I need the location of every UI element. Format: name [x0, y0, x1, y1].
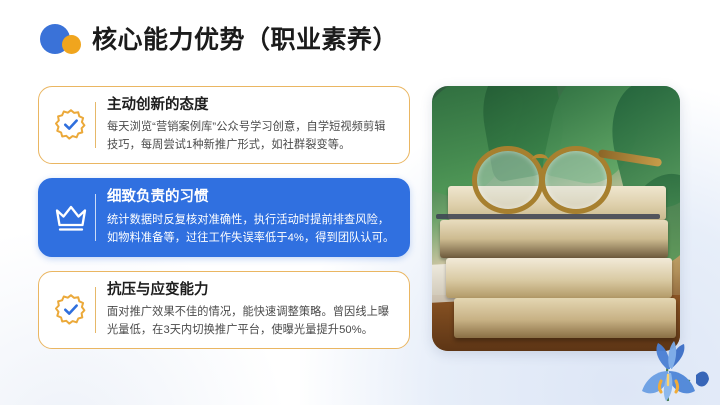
card-divider	[95, 194, 96, 240]
capability-card-1-title: 主动创新的态度	[107, 96, 395, 114]
capability-card-3-title: 抗压与应变能力	[107, 281, 395, 299]
page-title: 核心能力优势（职业素养）	[92, 28, 398, 53]
eyeglasses-bridge	[532, 154, 548, 165]
eyeglasses-icon	[468, 140, 646, 204]
capability-card-1[interactable]: 主动创新的态度 每天浏览“营销案例库”公众号学习创意，自学短视频剪辑技巧，每周尝…	[38, 86, 410, 164]
blue-iris-flower-icon	[628, 331, 714, 405]
capability-card-2-title: 细致负责的习惯	[107, 188, 395, 206]
card-divider	[95, 102, 96, 148]
logo-dots-icon	[40, 22, 86, 58]
slide-header: 核心能力优势（职业素养）	[40, 18, 398, 62]
card-divider	[95, 287, 96, 333]
capability-card-2[interactable]: 细致负责的习惯 统计数据时反复核对准确性，执行活动时提前排查风险，如物料准备等，…	[38, 178, 410, 256]
capability-card-2-body: 细致负责的习惯 统计数据时反复核对准确性，执行活动时提前排查风险，如物料准备等，…	[107, 188, 395, 246]
books-photo	[432, 86, 680, 351]
capability-card-3-body: 抗压与应变能力 面对推广效果不佳的情况，能快速调整策略。曾因线上曝光量低，在3天…	[107, 281, 395, 339]
books-photo-image	[432, 86, 680, 351]
capability-card-2-desc: 统计数据时反复核对准确性，执行活动时提前排查风险，如物料准备等，过往工作失误率低…	[107, 211, 395, 247]
capability-card-list: 主动创新的态度 每天浏览“营销案例库”公众号学习创意，自学短视频剪辑技巧，每周尝…	[38, 86, 410, 349]
capability-card-3[interactable]: 抗压与应变能力 面对推广效果不佳的情况，能快速调整策略。曾因线上曝光量低，在3天…	[38, 271, 410, 349]
crown-icon	[51, 198, 91, 238]
verified-badge-icon	[51, 290, 91, 330]
verified-badge-icon	[51, 105, 91, 145]
book-stack-item	[440, 220, 668, 258]
capability-card-1-desc: 每天浏览“营销案例库”公众号学习创意，自学短视频剪辑技巧，每周尝试1种新推广形式…	[107, 118, 395, 154]
book-stack-item	[446, 258, 672, 298]
book-spine-edge	[436, 214, 660, 219]
capability-card-1-body: 主动创新的态度 每天浏览“营销案例库”公众号学习创意，自学短视频剪辑技巧，每周尝…	[107, 96, 395, 154]
slide-canvas: 核心能力优势（职业素养） 主动创新的态度 每天浏览“营销案例库”公众号学习创意，…	[0, 0, 720, 405]
logo-orange-circle-icon	[62, 35, 81, 54]
capability-card-3-desc: 面对推广效果不佳的情况，能快速调整策略。曾因线上曝光量低，在3天内切换推广平台，…	[107, 303, 395, 339]
